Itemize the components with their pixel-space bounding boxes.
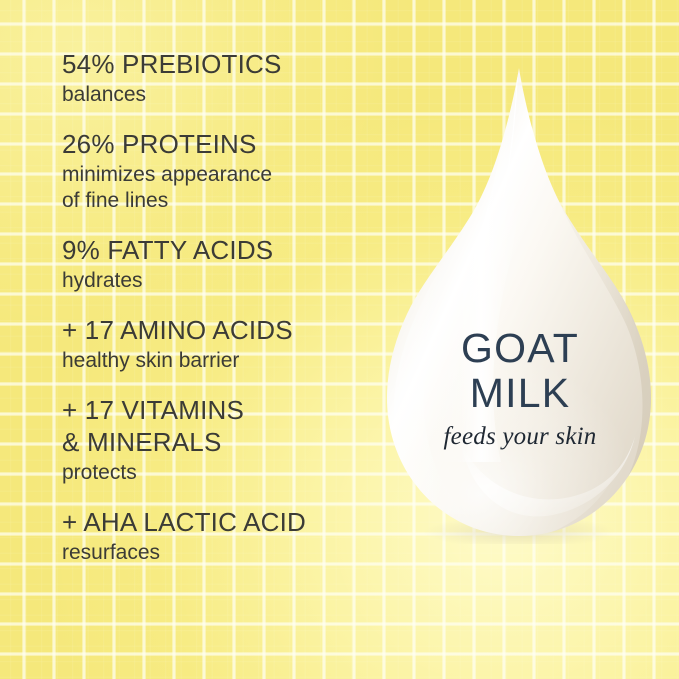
ingredient-benefit: minimizes appearance of fine lines (62, 162, 392, 214)
ingredient-benefit: healthy skin barrier (62, 348, 392, 374)
list-item: 26% PROTEINS minimizes appearance of fin… (62, 128, 392, 214)
ingredient-benefit: hydrates (62, 268, 392, 294)
ingredient-title: 26% PROTEINS (62, 128, 392, 160)
ingredient-title: 54% PREBIOTICS (62, 48, 392, 80)
infographic-canvas: 54% PREBIOTICS balances 26% PROTEINS min… (0, 0, 679, 679)
list-item: 9% FATTY ACIDS hydrates (62, 234, 392, 294)
list-item: + 17 VITAMINS & MINERALS protects (62, 394, 392, 486)
list-item: + AHA LACTIC ACID resurfaces (62, 506, 392, 566)
ingredient-title: 9% FATTY ACIDS (62, 234, 392, 266)
list-item: 54% PREBIOTICS balances (62, 48, 392, 108)
ingredient-title: + 17 VITAMINS & MINERALS (62, 394, 392, 458)
ingredient-title: + 17 AMINO ACIDS (62, 314, 392, 346)
list-item: + 17 AMINO ACIDS healthy skin barrier (62, 314, 392, 374)
ingredient-title: + AHA LACTIC ACID (62, 506, 392, 538)
ingredient-benefit: balances (62, 82, 392, 108)
ingredient-benefit: resurfaces (62, 540, 392, 566)
ingredient-benefit: protects (62, 460, 392, 486)
ingredient-list: 54% PREBIOTICS balances 26% PROTEINS min… (62, 48, 392, 566)
milk-droplet-icon (383, 62, 655, 544)
